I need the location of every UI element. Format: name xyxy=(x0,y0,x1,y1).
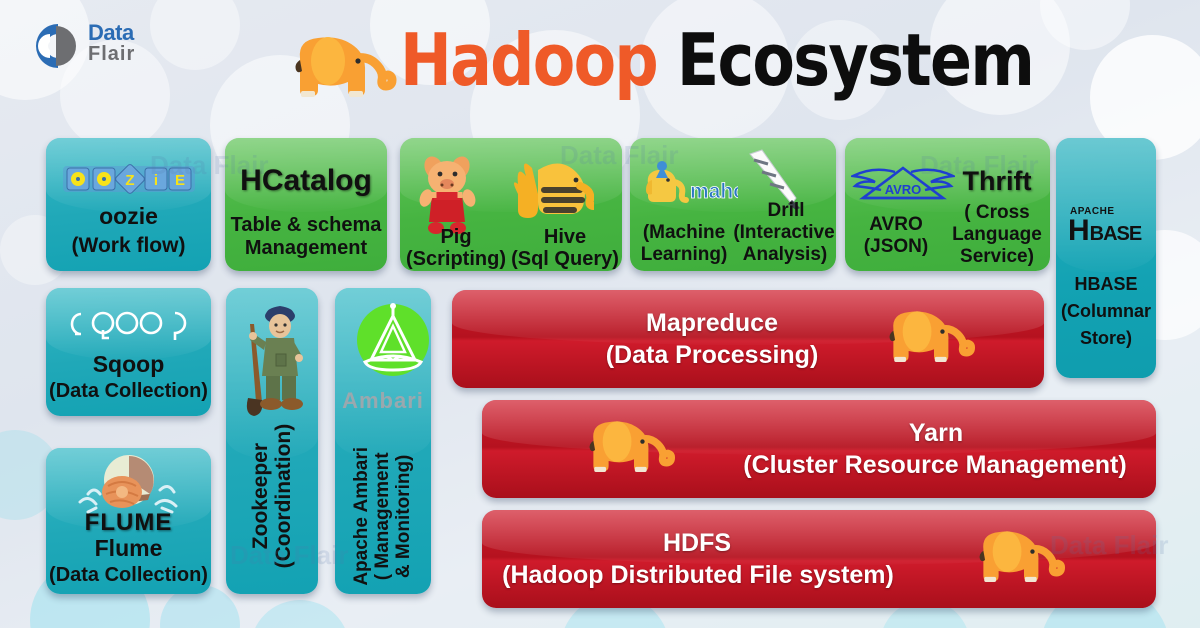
bar-hdfs-elephant-icon xyxy=(958,522,1068,598)
card-pig-name: Pig xyxy=(404,226,508,248)
bar-yarn-subtitle: (Cluster Resource Management) xyxy=(720,450,1150,480)
card-drill-subtitle: (Interactive xyxy=(732,222,836,243)
card-hive-subtitle: (Sql Query) xyxy=(508,248,622,270)
bar-yarn[interactable]: Yarn (Cluster Resource Management) xyxy=(482,400,1156,498)
hbase-logo-base: BASE xyxy=(1090,223,1142,245)
bar-mapreduce-elephant-icon xyxy=(868,302,978,378)
card-hbase-subtitle: (Columnar xyxy=(1056,301,1156,321)
logo-data-text: Data xyxy=(88,22,135,44)
svg-text:i: i xyxy=(153,172,157,189)
bar-mapreduce[interactable]: Mapreduce (Data Processing) xyxy=(452,290,1044,388)
oozie-logo-icon: Z i E xyxy=(46,164,211,199)
bar-mapreduce-name: Mapreduce xyxy=(542,308,882,338)
mahout-logo-icon: mahout xyxy=(638,160,738,210)
card-thrift-subtitle: Language xyxy=(945,224,1049,245)
card-hcatalog-name: Table & schema xyxy=(225,214,387,236)
bokeh-circle xyxy=(250,600,350,628)
card-mahout-name: (Machine xyxy=(630,222,738,243)
card-flume[interactable]: FLUME Flume (Data Collection) xyxy=(46,448,211,594)
bar-mapreduce-subtitle: (Data Processing) xyxy=(542,340,882,370)
page-header: Data Flair Hadoop Ecosystem xyxy=(0,0,1200,128)
card-thrift-name: ( Cross xyxy=(945,202,1049,223)
card-ambari-subtitle: ( Management xyxy=(373,447,394,586)
logo-flair-text: Flair xyxy=(88,44,135,64)
bar-hdfs-subtitle: (Hadoop Distributed File system) xyxy=(482,560,918,590)
hive-bee-icon xyxy=(502,150,594,236)
bar-yarn-name: Yarn xyxy=(726,418,1146,448)
sqoop-logo-icon xyxy=(65,304,193,344)
card-ambari-name: Apache Ambari xyxy=(352,447,373,586)
svg-text:Z: Z xyxy=(125,172,134,189)
card-hcatalog-wordmark: HCatalog xyxy=(225,164,387,198)
hadoop-elephant-icon xyxy=(270,28,400,114)
card-avro-thrift[interactable]: AVRO Thrift AVRO (JSON) ( Cross Language… xyxy=(845,138,1050,271)
page-title: Hadoop Ecosystem xyxy=(270,10,970,120)
card-sqoop[interactable]: Sqoop (Data Collection) xyxy=(46,288,211,416)
card-avro-subtitle: (JSON) xyxy=(845,236,947,257)
card-zookeeper-label: Zookeeper (Coordination) xyxy=(249,424,295,569)
card-flume-wordmark: FLUME xyxy=(46,510,211,537)
card-hive-name: Hive xyxy=(512,226,618,248)
ambari-logo-icon xyxy=(355,302,431,378)
svg-text:mahout: mahout xyxy=(690,180,738,203)
avro-wings-logo-icon: AVRO xyxy=(851,164,955,208)
card-sqoop-subtitle: (Data Collection) xyxy=(46,380,211,402)
card-oozie-subtitle: (Work flow) xyxy=(46,234,211,258)
card-pig-subtitle: (Scripting) xyxy=(400,248,512,270)
zookeeper-character-icon xyxy=(236,298,310,418)
card-zookeeper-subtitle: (Coordination) xyxy=(272,424,295,569)
title-text-group: Hadoop Ecosystem xyxy=(400,18,1033,102)
card-pig-hive[interactable]: Pig (Scripting) Hive (Sql Query) xyxy=(400,138,622,271)
card-flume-name: Flume xyxy=(46,536,211,562)
card-sqoop-name: Sqoop xyxy=(46,352,211,378)
card-hbase-name: HBASE xyxy=(1056,274,1156,294)
bar-hdfs-name: HDFS xyxy=(482,528,912,558)
dataflair-logo-icon xyxy=(30,20,86,72)
bar-yarn-elephant-icon xyxy=(568,412,678,488)
card-hcatalog-subtitle: Management xyxy=(225,237,387,259)
card-drill-subtitle2: Analysis) xyxy=(734,244,836,265)
title-ecosystem: Ecosystem xyxy=(677,18,1033,102)
bar-hdfs[interactable]: HDFS (Hadoop Distributed File system) xyxy=(482,510,1156,608)
dataflair-wordmark: Data Flair xyxy=(88,22,135,64)
card-oozie[interactable]: Z i E oozie (Work flow) xyxy=(46,138,211,271)
card-ambari-label: Apache Ambari ( Management & Monitoring) xyxy=(352,447,415,586)
card-zookeeper[interactable]: Zookeeper (Coordination) xyxy=(226,288,318,594)
apache-hbase-logo-icon: APACHE HBASE xyxy=(1056,206,1156,244)
card-drill-name: Drill xyxy=(736,200,836,221)
title-hadoop: Hadoop xyxy=(400,18,657,102)
card-avro-name: AVRO xyxy=(845,214,947,235)
card-thrift-subtitle2: Service) xyxy=(945,246,1049,267)
svg-text:E: E xyxy=(174,172,184,189)
card-ambari[interactable]: Ambari Apache Ambari ( Management & Moni… xyxy=(335,288,431,594)
card-ambari-subtitle2: & Monitoring) xyxy=(393,447,414,586)
card-zookeeper-name: Zookeeper xyxy=(249,424,272,569)
card-oozie-name: oozie xyxy=(46,204,211,230)
hbase-logo-h: H xyxy=(1068,214,1090,247)
card-hbase[interactable]: APACHE HBASE HBASE (Columnar Store) xyxy=(1056,138,1156,378)
dataflair-logo[interactable]: Data Flair xyxy=(30,20,150,76)
card-thrift-wordmark: Thrift xyxy=(947,166,1047,196)
card-hbase-subtitle2: Store) xyxy=(1056,328,1156,348)
card-ambari-wordmark: Ambari xyxy=(335,388,431,414)
card-mahout-subtitle: Learning) xyxy=(630,244,738,265)
card-mahout-drill[interactable]: mahout (Machine Learning) Drill (Interac… xyxy=(630,138,836,271)
card-hcatalog[interactable]: HCatalog Table & schema Management xyxy=(225,138,387,271)
svg-text:AVRO: AVRO xyxy=(885,182,922,197)
card-flume-subtitle: (Data Collection) xyxy=(46,564,211,586)
